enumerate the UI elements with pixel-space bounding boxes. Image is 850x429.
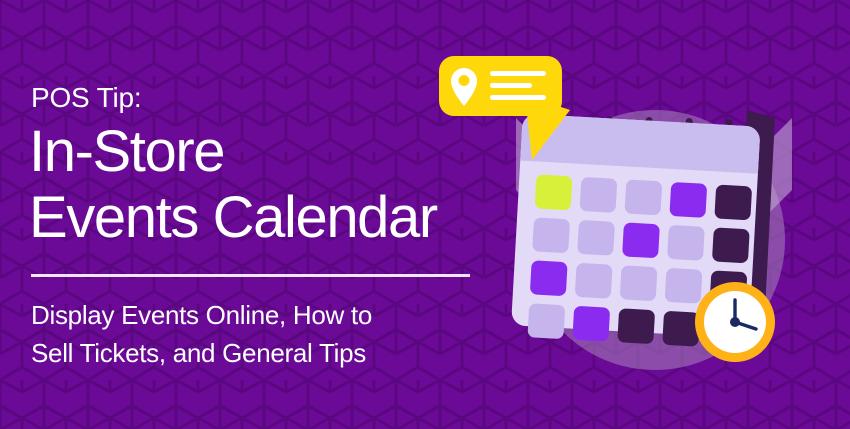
calendar-cell (662, 311, 700, 347)
clock-icon (695, 282, 775, 362)
calendar-cell (714, 184, 752, 220)
divider (31, 274, 470, 277)
clock-center-dot (730, 317, 740, 327)
calendar-cell (527, 303, 565, 339)
calendar-cell (535, 174, 573, 210)
calendar-cell (622, 222, 660, 258)
calendar-cell (580, 177, 618, 213)
calendar-cell (620, 265, 658, 301)
calendar-cell (665, 268, 703, 304)
calendar-cell (530, 260, 568, 296)
calendar-cell (577, 220, 615, 256)
subtitle-line-2: Sell Tickets, and General Tips (31, 334, 372, 372)
calendar-cell (572, 306, 610, 342)
headline-line-2: Events Calendar (29, 185, 437, 251)
subtitle: Display Events Online, How to Sell Ticke… (31, 296, 372, 372)
calendar-cell (669, 182, 707, 218)
calendar-cell (575, 263, 613, 299)
page-title: In-Store Events Calendar (29, 119, 437, 251)
calendar-cell (532, 217, 570, 253)
headline-line-1: In-Store (29, 119, 224, 184)
subtitle-line-1: Display Events Online, How to (31, 300, 372, 330)
calendar-cell (712, 227, 750, 263)
calendar-cell (667, 225, 705, 261)
text-block: POS Tip: In-Store Events Calendar Displa… (31, 0, 501, 429)
promo-banner: POS Tip: In-Store Events Calendar Displa… (0, 0, 850, 429)
eyebrow-text: POS Tip: (31, 82, 141, 114)
calendar-cell (617, 308, 655, 344)
calendar-cell (624, 179, 662, 215)
